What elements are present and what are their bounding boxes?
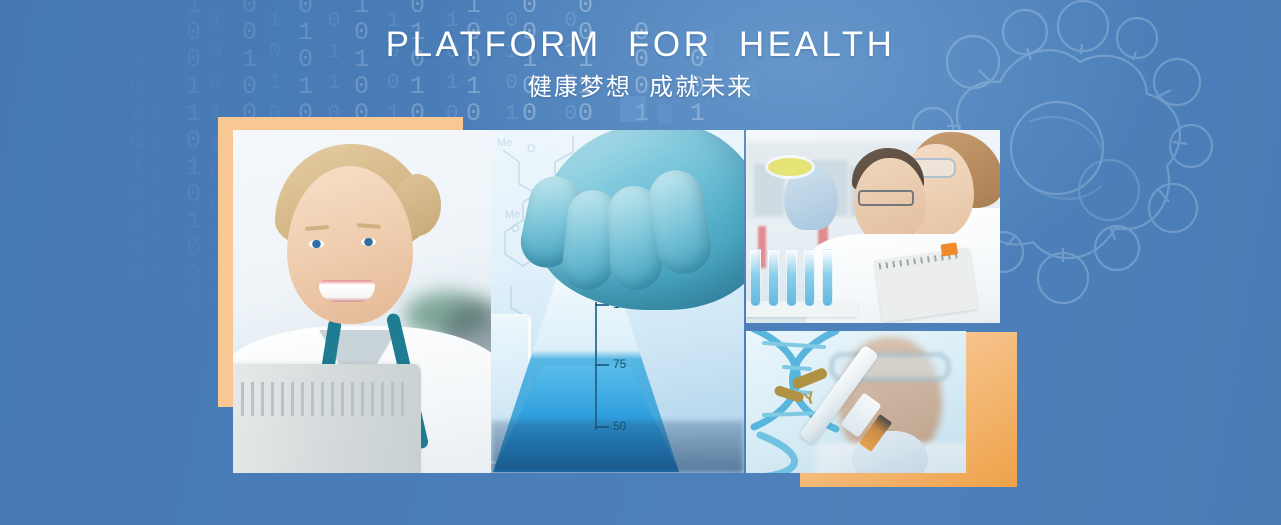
dna-researcher-photo: Y Y: [746, 331, 966, 473]
svg-text:Me: Me: [505, 209, 520, 221]
svg-text:O: O: [527, 143, 536, 155]
smiling-doctor-photo: [233, 130, 491, 473]
lab-scientists-photo: [746, 130, 1000, 323]
flask-graduation-scale: 100 75 50: [595, 302, 645, 430]
svg-text:Me: Me: [497, 137, 512, 149]
health-platform-banner: 1 1 0 0 1 0 1 0 0 1 0 0 1 0 1 0 0 0 0 0 …: [0, 0, 1281, 525]
flask-photo: Me OH Me O O 100 75 50: [491, 130, 744, 473]
notepad: [874, 248, 978, 323]
flask-scale-label-75: 75: [613, 357, 626, 371]
svg-text:O: O: [511, 223, 520, 235]
